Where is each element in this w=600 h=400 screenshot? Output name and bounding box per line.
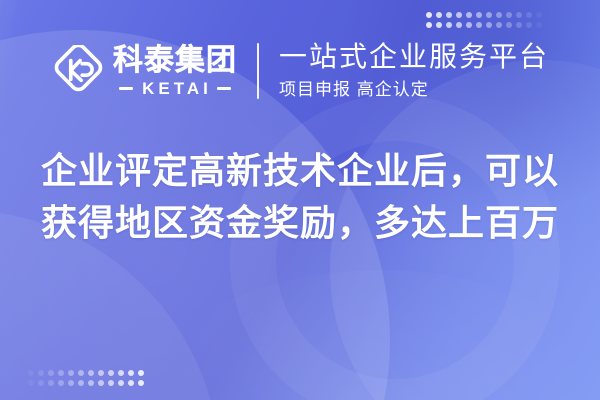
decor-dot — [68, 370, 74, 376]
brand-wordmark: 科泰集团 KETAI — [113, 45, 237, 97]
decor-dot — [486, 12, 492, 18]
banner-header: 科泰集团 KETAI 一站式企业服务平台 项目申报 高企认定 — [0, 32, 600, 110]
header-divider — [257, 43, 259, 99]
decor-dot — [48, 370, 54, 376]
decor-dot — [28, 380, 34, 386]
decor-dot — [426, 22, 432, 28]
decor-dot — [38, 370, 44, 376]
dot-row — [28, 380, 144, 386]
decor-dot — [506, 12, 512, 18]
decor-dot — [476, 12, 482, 18]
decor-dot — [108, 370, 114, 376]
decor-dot — [58, 370, 64, 376]
decor-dot — [88, 380, 94, 386]
decor-dot — [38, 380, 44, 386]
decor-dot — [426, 12, 432, 18]
brand-name-en: KETAI — [138, 80, 212, 97]
decor-dot — [446, 22, 452, 28]
decor-dot — [68, 380, 74, 386]
decor-dot — [466, 12, 472, 18]
decor-dot — [128, 380, 134, 386]
decor-dot — [98, 380, 104, 386]
decor-dot — [138, 380, 144, 386]
decor-dot — [536, 22, 542, 28]
promo-banner: 科泰集团 KETAI 一站式企业服务平台 项目申报 高企认定 企业评定高新技术企… — [0, 0, 600, 400]
slogan-main: 一站式企业服务平台 — [279, 41, 549, 73]
decor-dot — [516, 22, 522, 28]
decor-dot — [496, 12, 502, 18]
headline-block: 企业评定高新技术企业后，可以 获得地区资金奖励，多达上百万 — [0, 148, 600, 246]
ketai-kp-monogram-logo — [51, 45, 103, 97]
dot-grid-bottom-left — [28, 370, 144, 386]
brand-name-cn: 科泰集团 — [113, 45, 237, 77]
decor-dot — [476, 22, 482, 28]
decor-dot — [128, 370, 134, 376]
decor-dot — [516, 12, 522, 18]
decor-dot — [436, 22, 442, 28]
brand-lockup: 科泰集团 KETAI — [51, 45, 237, 97]
brand-name-en-wrap: KETAI — [113, 80, 237, 97]
decor-dot — [446, 12, 452, 18]
decor-dot — [28, 370, 34, 376]
dot-row — [426, 22, 542, 28]
dot-grid-top-right — [426, 12, 542, 28]
slogan-sub: 项目申报 高企认定 — [279, 79, 549, 101]
decor-arc-right — [230, 95, 560, 400]
decor-dot — [88, 370, 94, 376]
decor-dot — [456, 12, 462, 18]
decor-dot — [456, 22, 462, 28]
decor-dot — [506, 22, 512, 28]
bottom-glow — [120, 270, 600, 400]
decor-dot — [118, 370, 124, 376]
decor-dot — [436, 12, 442, 18]
dot-row — [426, 12, 542, 18]
decor-dot — [78, 380, 84, 386]
decor-dot — [48, 380, 54, 386]
decor-dot — [496, 22, 502, 28]
dot-row — [28, 370, 144, 376]
headline-line-2: 获得地区资金奖励，多达上百万 — [41, 200, 559, 246]
brand-rule-left — [119, 87, 133, 90]
decor-dot — [58, 380, 64, 386]
slogan-block: 一站式企业服务平台 项目申报 高企认定 — [279, 41, 549, 100]
decor-dot — [466, 22, 472, 28]
headline-line-1: 企业评定高新技术企业后，可以 — [41, 148, 559, 194]
decor-dot — [536, 12, 542, 18]
decor-dot — [486, 22, 492, 28]
decor-dot — [138, 370, 144, 376]
brand-rule-right — [217, 87, 231, 90]
decor-dot — [108, 380, 114, 386]
decor-dot — [526, 12, 532, 18]
decor-dot — [118, 380, 124, 386]
decor-dot — [526, 22, 532, 28]
decor-dot — [78, 370, 84, 376]
decor-dot — [98, 370, 104, 376]
